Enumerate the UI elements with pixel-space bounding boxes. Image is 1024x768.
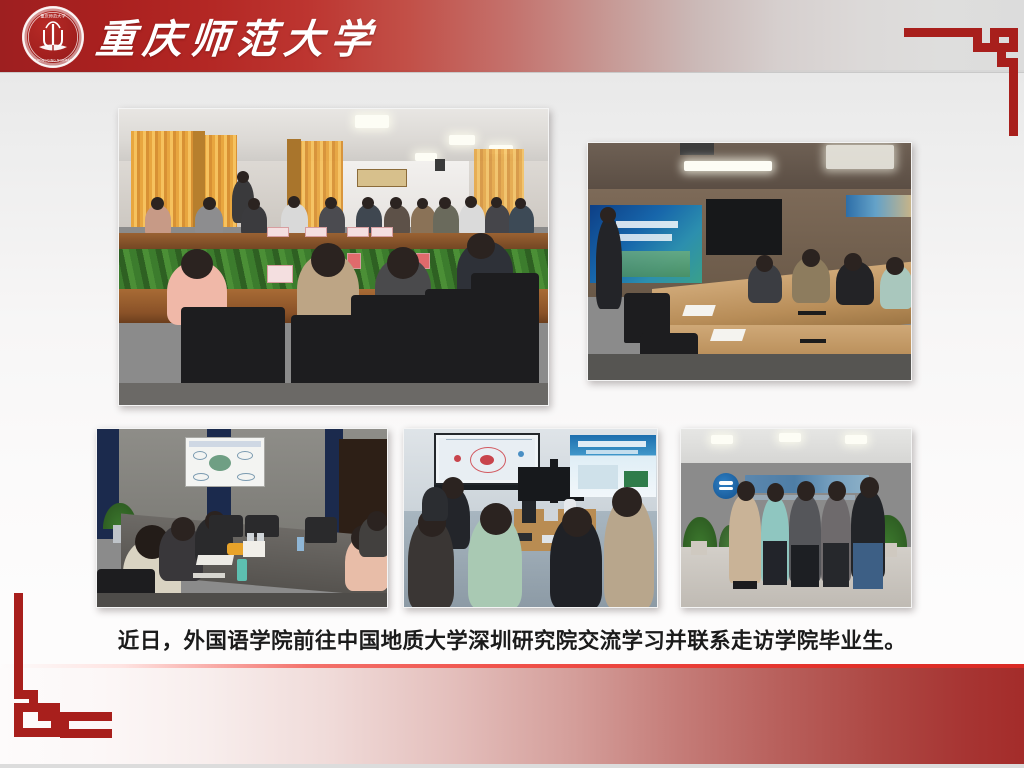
photo-group-photo-lobby <box>680 428 912 608</box>
bottom-left-corner-ornament <box>14 593 134 758</box>
svg-text:重庆师范大学: 重庆师范大学 <box>40 13 65 20</box>
university-name-title: 重庆师范大学 <box>93 3 381 69</box>
university-emblem-icon: 重庆师范大学 CHONGQING NORMAL <box>22 6 84 68</box>
photo-large-conference-room-meeting <box>118 108 549 406</box>
slide-header-banner: 重庆师范大学 CHONGQING NORMAL 重庆师范大学 <box>0 0 1024 73</box>
svg-text:CHONGQING NORMAL: CHONGQING NORMAL <box>34 59 71 63</box>
top-right-corner-ornament <box>904 10 1024 135</box>
slide-caption: 近日，外国语学院前往中国地质大学深圳研究院交流学习并联系走访学院毕业生。 <box>0 624 1024 655</box>
footer-bottom-edge <box>0 764 1024 768</box>
slide-footer-banner <box>0 668 1024 768</box>
photo-exhibition-hall-visit <box>403 428 658 608</box>
slide-canvas: 重庆师范大学 CHONGQING NORMAL 重庆师范大学 <box>0 0 1024 768</box>
photo-seminar-room-discussion <box>96 428 388 608</box>
photo-presentation-briefing-room <box>587 142 912 381</box>
